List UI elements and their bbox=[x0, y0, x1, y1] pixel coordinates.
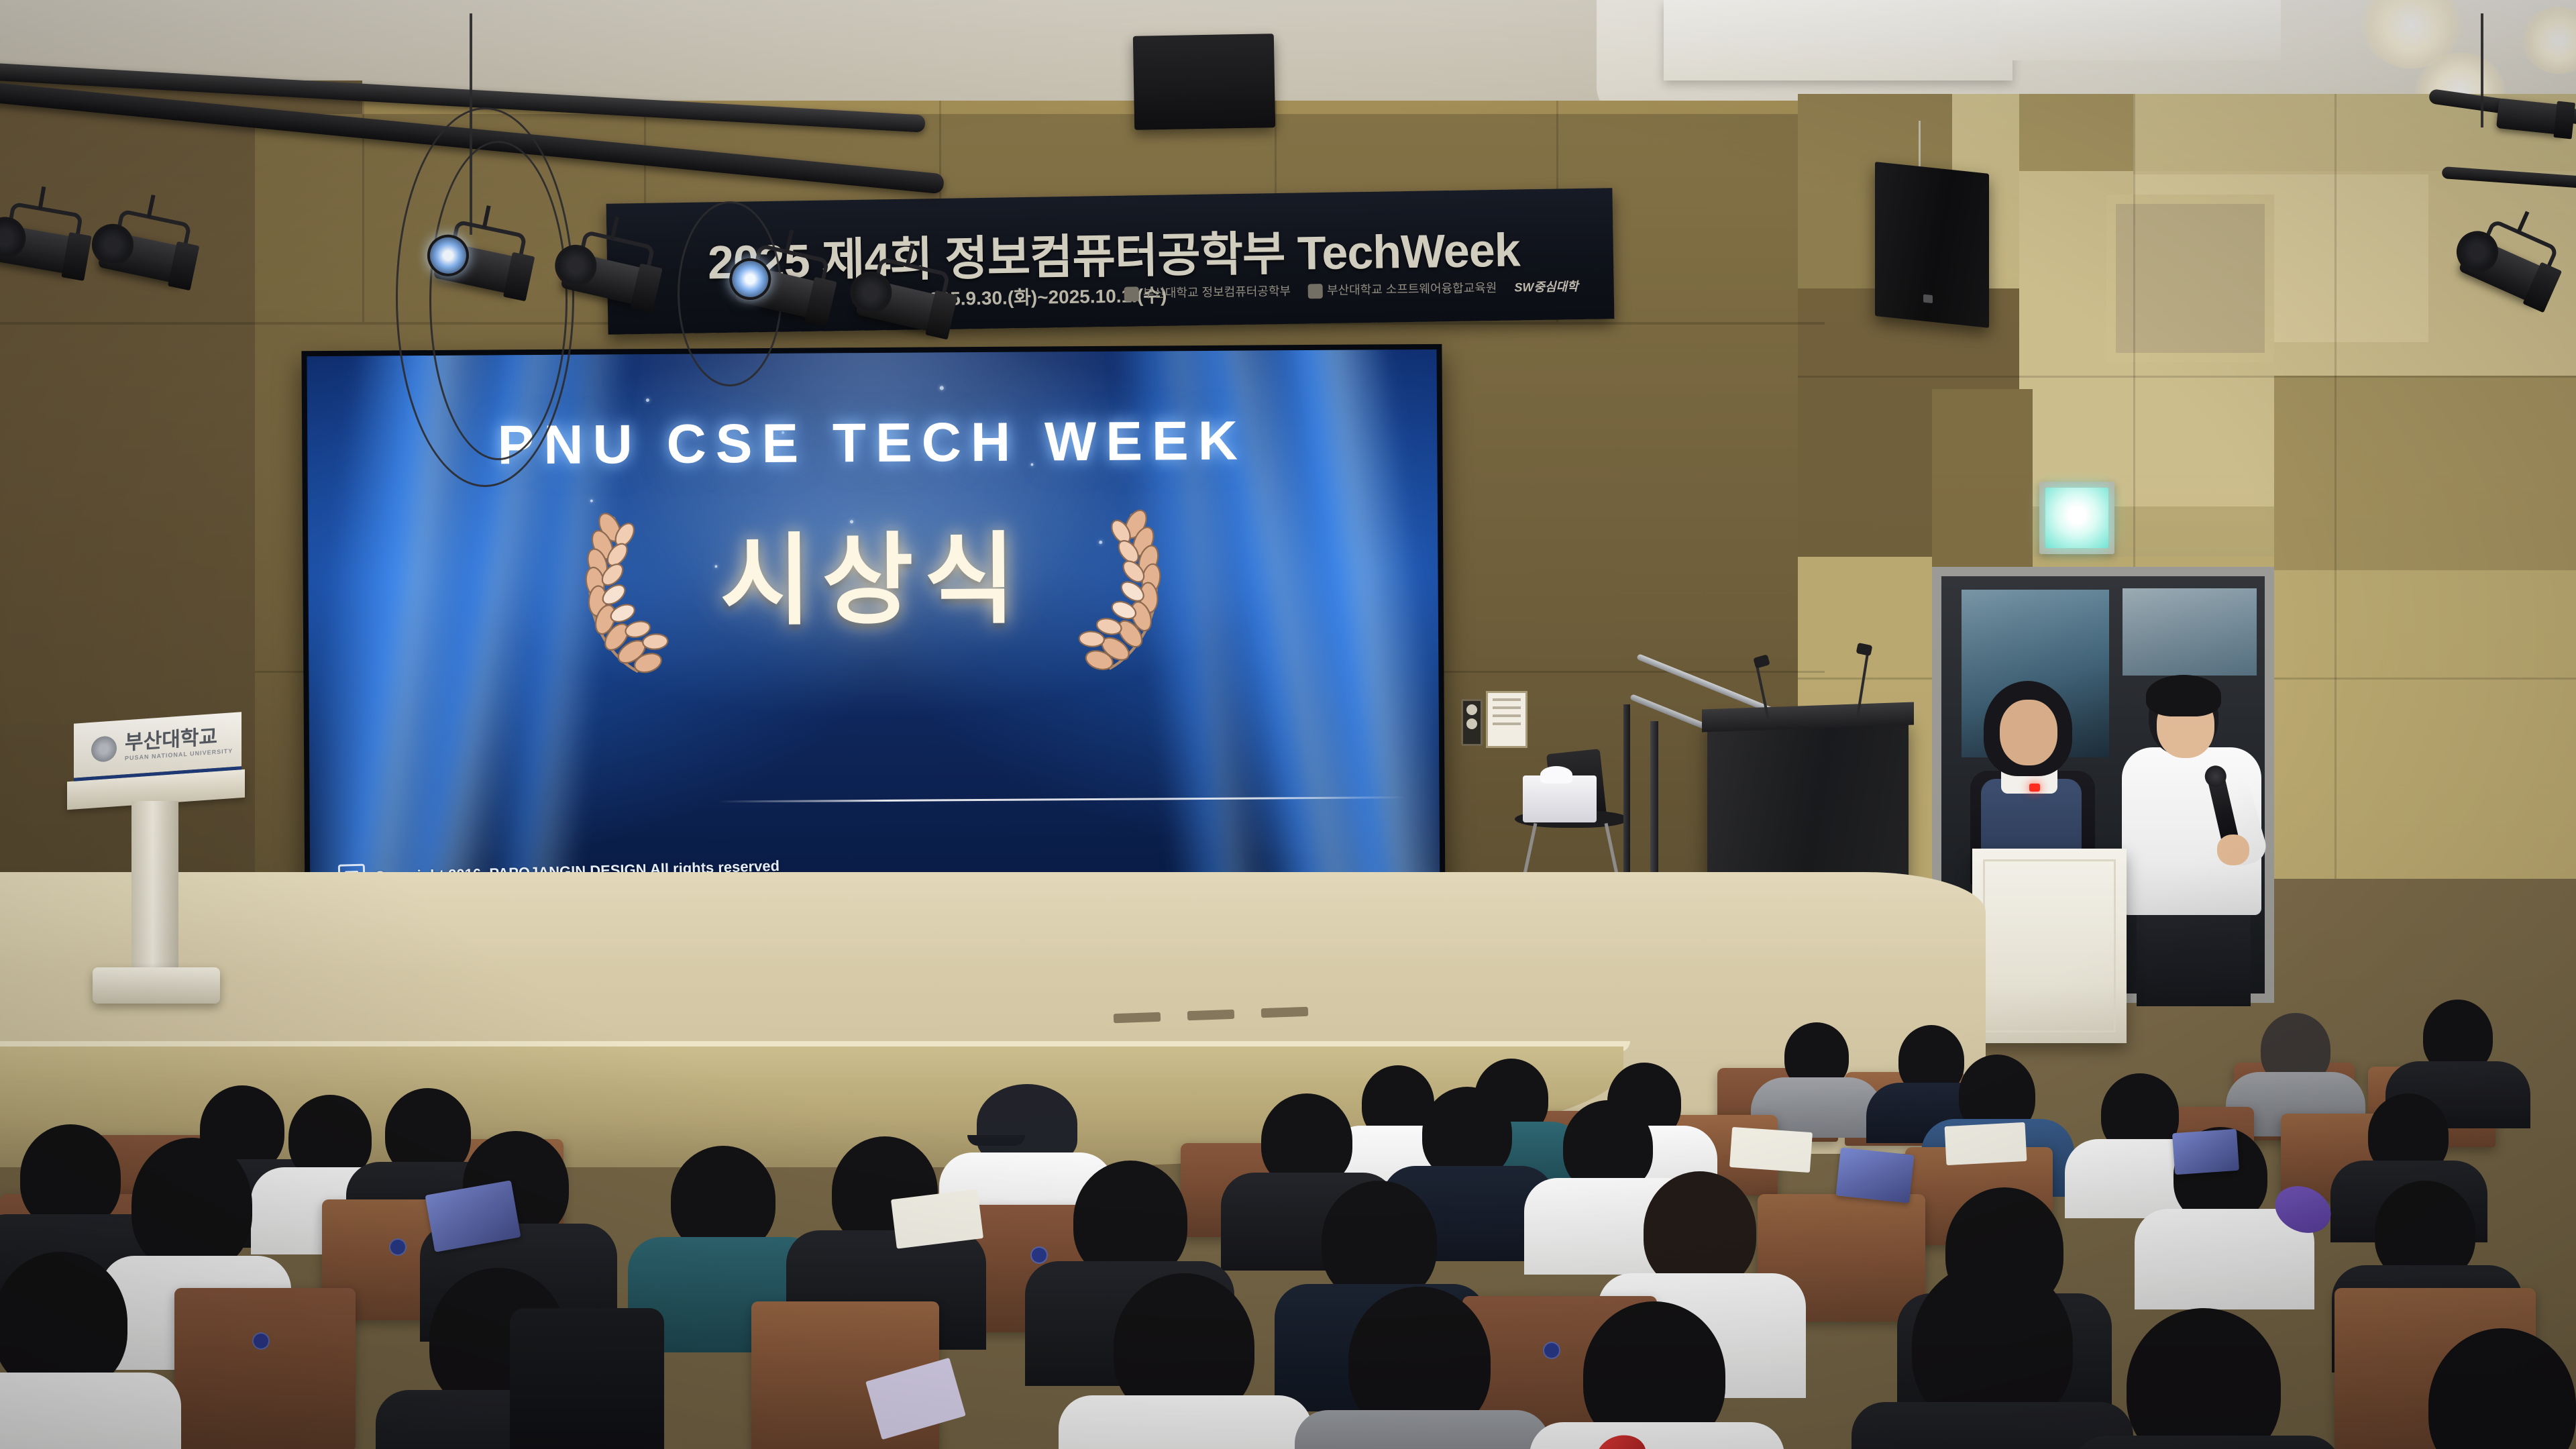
notice-line bbox=[1493, 722, 1521, 725]
stage-light-fixture bbox=[2489, 78, 2576, 155]
switch-button[interactable] bbox=[1466, 718, 1477, 729]
shoulders bbox=[1529, 1422, 1784, 1449]
jbl-wall-speaker bbox=[1875, 162, 1989, 328]
acoustic-panel bbox=[2106, 195, 2274, 362]
ceiling-beam-secondary bbox=[1999, 0, 2281, 60]
notice-line bbox=[1493, 714, 1521, 717]
tissue-box bbox=[1523, 775, 1597, 822]
suspension-cable bbox=[2481, 13, 2483, 127]
sw-program-mark: SW중심대학 bbox=[1514, 277, 1578, 295]
backpack[interactable] bbox=[510, 1308, 664, 1449]
stage-light-fixture bbox=[0, 199, 94, 301]
organizer-item: 부산대학교 소프트웨어융합교육원 bbox=[1308, 278, 1497, 299]
handout-paper[interactable] bbox=[1729, 1127, 1813, 1173]
organizer-item: 부산대학교 정보컴퓨터공학부 bbox=[1124, 282, 1291, 302]
eyeglasses bbox=[2180, 1175, 2255, 1185]
wall-seam bbox=[1798, 376, 2576, 378]
notice-line bbox=[1493, 698, 1521, 701]
audience-member bbox=[0, 1252, 127, 1393]
microphone-stand bbox=[1623, 704, 1630, 899]
audience-member bbox=[2127, 1308, 2281, 1449]
tablet-device[interactable] bbox=[1836, 1147, 1915, 1203]
overhead-speaker bbox=[1133, 34, 1275, 130]
audience-member bbox=[1322, 1181, 1437, 1301]
recording-indicator-led bbox=[2029, 784, 2040, 792]
eyeglasses bbox=[1358, 1366, 1465, 1375]
seat-number-badge bbox=[1543, 1342, 1560, 1359]
wall-panel bbox=[1932, 389, 2033, 577]
face bbox=[2000, 700, 2057, 765]
shoulders bbox=[0, 1373, 181, 1449]
light-switch-panel[interactable] bbox=[1461, 699, 1483, 746]
pnu-crest-icon bbox=[1124, 287, 1139, 302]
baseball-cap bbox=[977, 1084, 1077, 1163]
slide-subtitle: 시상식 bbox=[308, 496, 1438, 647]
shoulders bbox=[2073, 1436, 2341, 1449]
exit-sign-lamp-icon bbox=[2045, 488, 2108, 548]
sparkle bbox=[940, 386, 944, 390]
wall-panel bbox=[2274, 376, 2576, 570]
auditorium-scene: 2025 제4회 정보컴퓨터공학부 TechWeek 기간: 2025.9.30… bbox=[0, 0, 2576, 1449]
notice-line bbox=[1493, 706, 1521, 709]
podium-university-name: 부산대학교 PUSAN NATIONAL UNIVERSITY bbox=[125, 726, 233, 761]
seat-number-badge bbox=[252, 1332, 270, 1350]
ceiling-beam bbox=[1664, 0, 2012, 80]
switch-button[interactable] bbox=[1466, 704, 1477, 715]
fixture-barndoor bbox=[2553, 101, 2575, 140]
shoulders bbox=[1059, 1395, 1312, 1449]
cap-brim bbox=[967, 1135, 1025, 1146]
audience-member bbox=[1644, 1171, 1756, 1289]
audience bbox=[0, 993, 2576, 1449]
auditorium-seat[interactable] bbox=[174, 1288, 356, 1449]
emergency-exit-sign bbox=[2039, 482, 2114, 554]
pnu-crest-icon bbox=[1308, 284, 1323, 299]
pnu-crest-icon bbox=[91, 735, 117, 763]
seat-number-badge bbox=[389, 1238, 407, 1256]
pnu-podium: 부산대학교 PUSAN NATIONAL UNIVERSITY bbox=[67, 731, 245, 1000]
speaker-suspension-wire bbox=[1919, 121, 1921, 173]
handout-paper[interactable] bbox=[891, 1189, 983, 1248]
hair bbox=[2146, 675, 2221, 716]
tablet-device[interactable] bbox=[2172, 1129, 2239, 1175]
podium-nameplate: 부산대학교 PUSAN NATIONAL UNIVERSITY bbox=[74, 712, 241, 781]
audience-member bbox=[20, 1124, 121, 1229]
shoulders bbox=[1295, 1410, 1550, 1449]
audience-member bbox=[131, 1138, 252, 1272]
seat-number-badge bbox=[1030, 1246, 1048, 1264]
podium-column bbox=[131, 801, 178, 982]
lower-body bbox=[2137, 899, 2251, 1006]
speaker-with-microphone bbox=[2116, 678, 2271, 993]
handout-paper[interactable] bbox=[1945, 1122, 2027, 1165]
wall-notice bbox=[1486, 691, 1527, 748]
wall-seam bbox=[2334, 94, 2337, 879]
hand bbox=[2217, 835, 2249, 865]
